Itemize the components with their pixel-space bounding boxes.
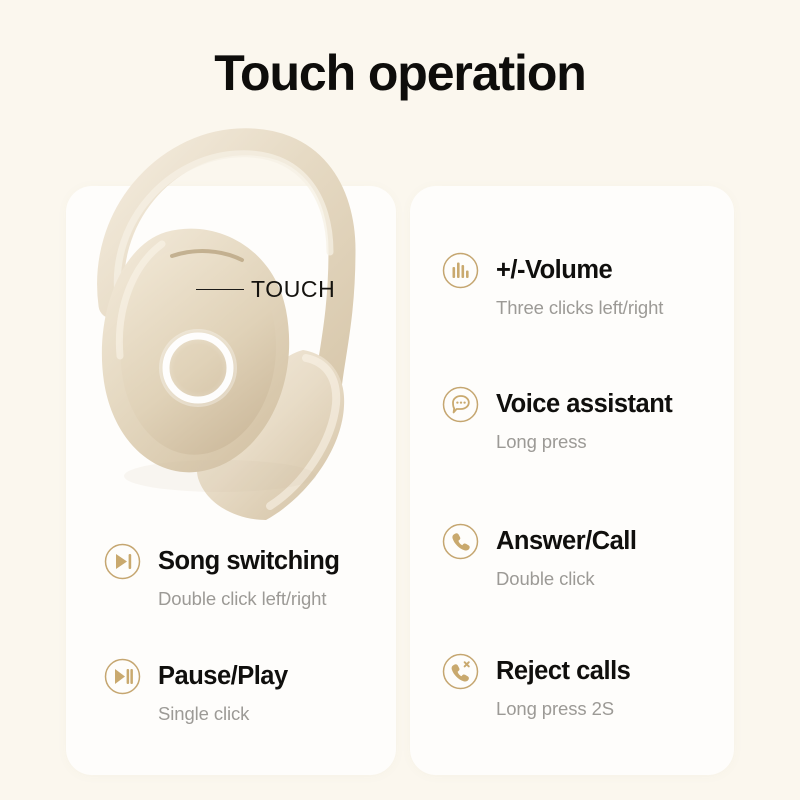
feature-header: Answer/Call (442, 523, 636, 560)
phone-reject-icon (442, 653, 479, 690)
play-pause-icon (104, 658, 141, 695)
feature-volume[interactable]: +/-Volume Three clicks left/right (442, 252, 663, 319)
feature-subtitle: Double click left/right (158, 588, 339, 610)
page-title: Touch operation (0, 44, 800, 102)
skip-next-icon (104, 543, 141, 580)
feature-title: Reject calls (496, 657, 630, 686)
feature-subtitle: Three clicks left/right (496, 297, 663, 319)
callout-leader-line (196, 289, 244, 291)
feature-header: Voice assistant (442, 386, 672, 423)
feature-title: Voice assistant (496, 390, 672, 419)
feature-subtitle: Long press 2S (496, 698, 630, 720)
feature-subtitle: Single click (158, 703, 288, 725)
touch-callout: TOUCH (196, 276, 335, 303)
feature-title: Pause/Play (158, 662, 288, 691)
feature-title: Song switching (158, 547, 339, 576)
feature-title: Answer/Call (496, 527, 636, 556)
feature-song-switching[interactable]: Song switching Double click left/right (104, 543, 339, 610)
speech-bubble-icon (442, 386, 479, 423)
touch-callout-label: TOUCH (251, 276, 335, 303)
feature-subtitle: Long press (496, 431, 672, 453)
feature-header: Song switching (104, 543, 339, 580)
feature-header: Pause/Play (104, 658, 288, 695)
feature-pause-play[interactable]: Pause/Play Single click (104, 658, 288, 725)
feature-voice-assistant[interactable]: Voice assistant Long press (442, 386, 672, 453)
equalizer-icon (442, 252, 479, 289)
feature-header: Reject calls (442, 653, 630, 690)
feature-title: +/-Volume (496, 256, 612, 285)
feature-reject-calls[interactable]: Reject calls Long press 2S (442, 653, 630, 720)
feature-answer-call[interactable]: Answer/Call Double click (442, 523, 636, 590)
phone-icon (442, 523, 479, 560)
feature-subtitle: Double click (496, 568, 636, 590)
feature-header: +/-Volume (442, 252, 663, 289)
